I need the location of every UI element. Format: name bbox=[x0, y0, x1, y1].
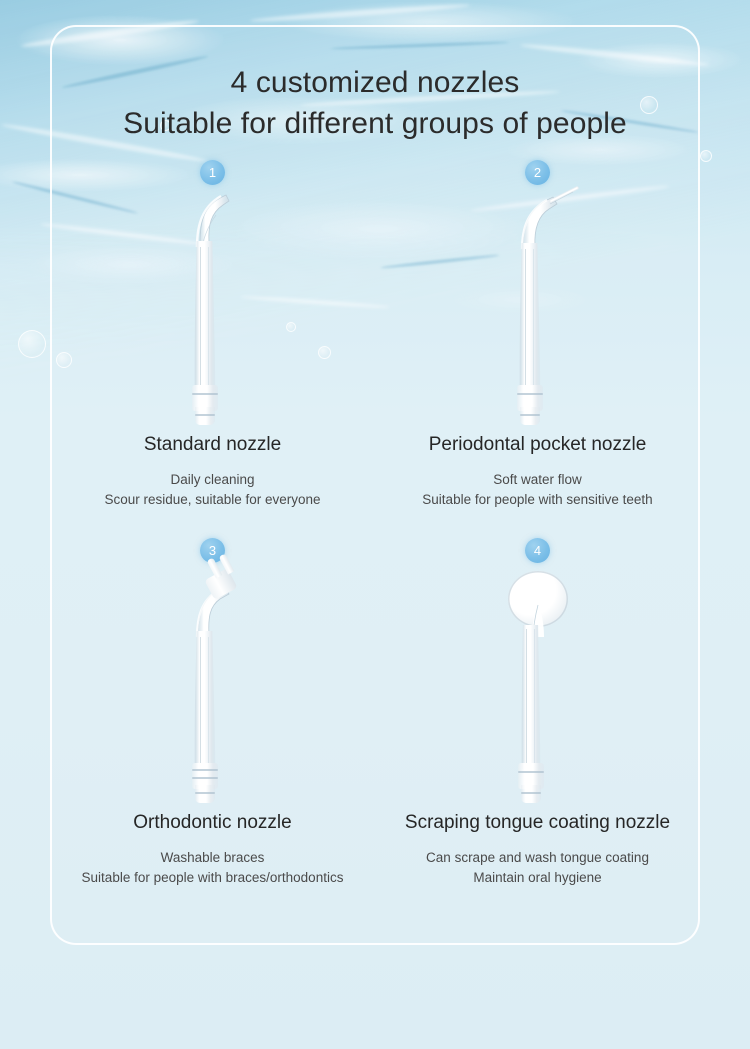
nozzle-collar-ring bbox=[195, 792, 215, 794]
nozzle-shaft bbox=[519, 243, 541, 391]
nozzle-collar bbox=[521, 785, 541, 803]
nozzle-highlight-line bbox=[525, 249, 526, 391]
nozzle-row-2: 3 bbox=[50, 538, 700, 888]
nozzle-highlight-line bbox=[534, 629, 535, 769]
scraping-tongue-coating-nozzle-icon bbox=[453, 563, 623, 811]
nozzle-desc-line-1: Washable braces bbox=[161, 848, 265, 868]
nozzle-collar bbox=[195, 407, 215, 425]
standard-nozzle-icon bbox=[128, 185, 298, 433]
nozzle-item-orthodontic[interactable]: 3 bbox=[50, 538, 375, 888]
nozzle-highlight-line bbox=[208, 247, 209, 391]
nozzle-desc-line-1: Can scrape and wash tongue coating bbox=[426, 848, 649, 868]
nozzle-desc-line-2: Scour residue, suitable for everyone bbox=[104, 490, 320, 510]
nozzle-highlight-line bbox=[200, 247, 201, 391]
nozzle-shaft bbox=[521, 625, 541, 769]
water-bubble bbox=[18, 330, 46, 358]
nozzle-shaft bbox=[194, 241, 216, 391]
badge-number-1: 1 bbox=[200, 160, 225, 185]
nozzle-title: Periodontal pocket nozzle bbox=[429, 433, 647, 457]
nozzle-grid: 1 bbox=[50, 160, 700, 888]
page-title: 4 customized nozzles Suitable for differ… bbox=[50, 62, 700, 144]
nozzle-collar-ring bbox=[520, 414, 540, 416]
nozzle-row-1: 1 bbox=[50, 160, 700, 510]
nozzle-base-ring bbox=[192, 777, 218, 779]
periodontal-pocket-nozzle-icon bbox=[453, 185, 623, 433]
nozzle-desc-line-2: Suitable for people with sensitive teeth bbox=[422, 490, 652, 510]
nozzle-desc-line-2: Suitable for people with braces/orthodon… bbox=[82, 868, 344, 888]
nozzle-item-standard[interactable]: 1 bbox=[50, 160, 375, 510]
nozzle-collar bbox=[520, 407, 540, 425]
product-infographic: 4 customized nozzles Suitable for differ… bbox=[0, 0, 750, 1049]
nozzle-shaft bbox=[194, 631, 216, 769]
nozzle-collar-ring bbox=[521, 792, 541, 794]
water-bubble bbox=[700, 150, 712, 162]
nozzle-collar-ring bbox=[195, 414, 215, 416]
orthodontic-nozzle-icon bbox=[128, 563, 298, 811]
nozzle-base-ring bbox=[192, 393, 218, 395]
nozzle-base-ring bbox=[517, 393, 543, 395]
nozzle-highlight-line bbox=[200, 637, 201, 769]
nozzle-desc-line-1: Daily cleaning bbox=[170, 470, 254, 490]
nozzle-desc-line-2: Maintain oral hygiene bbox=[473, 868, 601, 888]
nozzle-base-ring bbox=[518, 771, 544, 773]
headline-line-2: Suitable for different groups of people bbox=[50, 103, 700, 144]
nozzle-item-tongue-scraper[interactable]: 4 Scraping tongue coat bbox=[375, 538, 700, 888]
nozzle-desc-line-1: Soft water flow bbox=[493, 470, 582, 490]
badge-number-2: 2 bbox=[525, 160, 550, 185]
nozzle-highlight-line bbox=[533, 249, 534, 391]
nozzle-highlight-line bbox=[526, 629, 527, 769]
nozzle-collar bbox=[195, 785, 215, 803]
nozzle-title: Standard nozzle bbox=[144, 433, 281, 457]
headline-line-1: 4 customized nozzles bbox=[50, 62, 700, 103]
nozzle-title: Scraping tongue coating nozzle bbox=[405, 811, 670, 835]
badge-number-4: 4 bbox=[525, 538, 550, 563]
nozzle-highlight-line bbox=[208, 637, 209, 769]
nozzle-base-ring bbox=[192, 769, 218, 771]
nozzle-item-periodontal[interactable]: 2 bbox=[375, 160, 700, 510]
nozzle-title: Orthodontic nozzle bbox=[133, 811, 291, 835]
